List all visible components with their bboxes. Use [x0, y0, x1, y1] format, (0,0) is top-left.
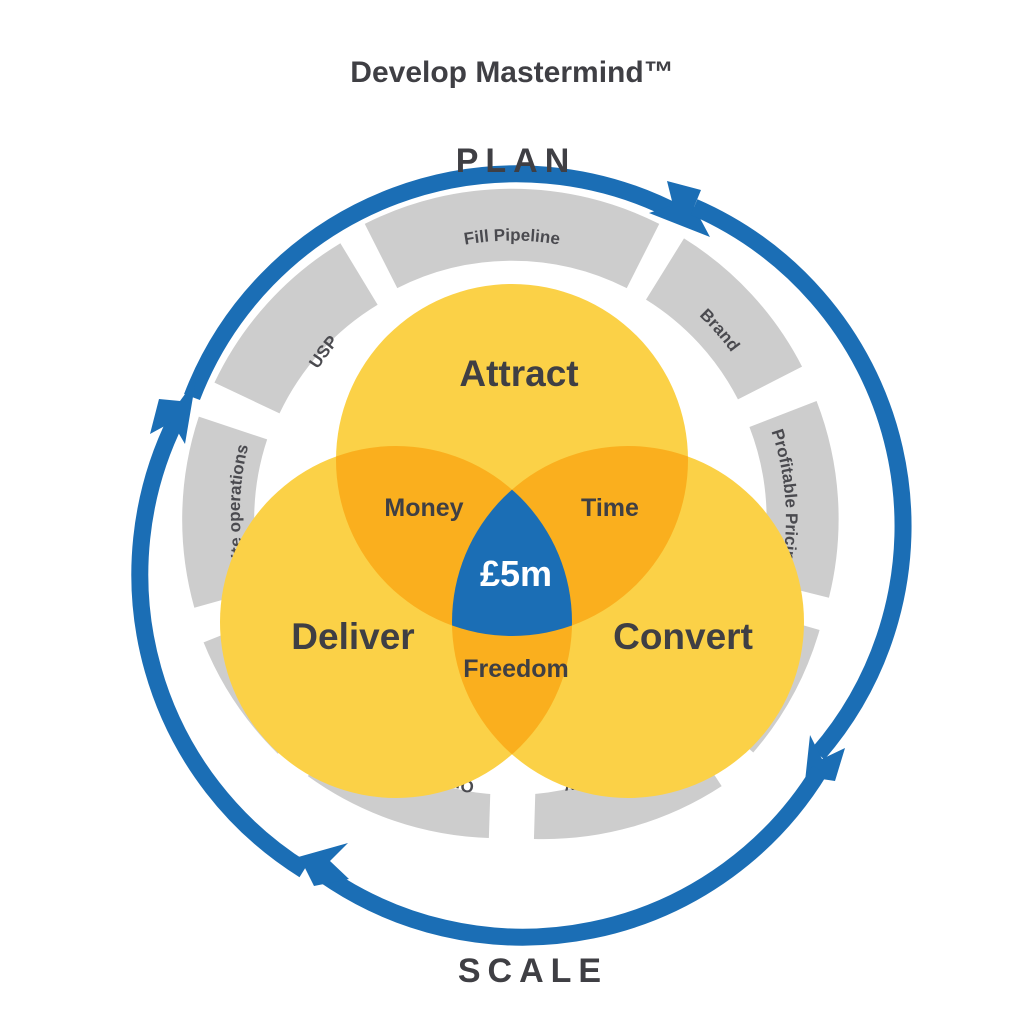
venn-label-convert: Convert	[613, 616, 753, 657]
venn-label-freedom: Freedom	[463, 655, 569, 683]
venn-label-attract: Attract	[459, 353, 578, 394]
develop-mastermind-diagram: Develop Mastermind™ PLAN SCALE	[0, 0, 1024, 1024]
cycle-label-plan: PLAN	[456, 142, 577, 180]
venn-label-center-value: £5m	[480, 553, 552, 594]
venn-label-money: Money	[384, 494, 463, 522]
venn-label-time: Time	[581, 494, 639, 522]
page-title: Develop Mastermind™	[350, 56, 673, 89]
cycle-label-scale: SCALE	[458, 952, 608, 990]
venn-label-deliver: Deliver	[291, 616, 414, 657]
diagram-canvas: Develop Mastermind™ PLAN SCALE	[0, 0, 1024, 1024]
